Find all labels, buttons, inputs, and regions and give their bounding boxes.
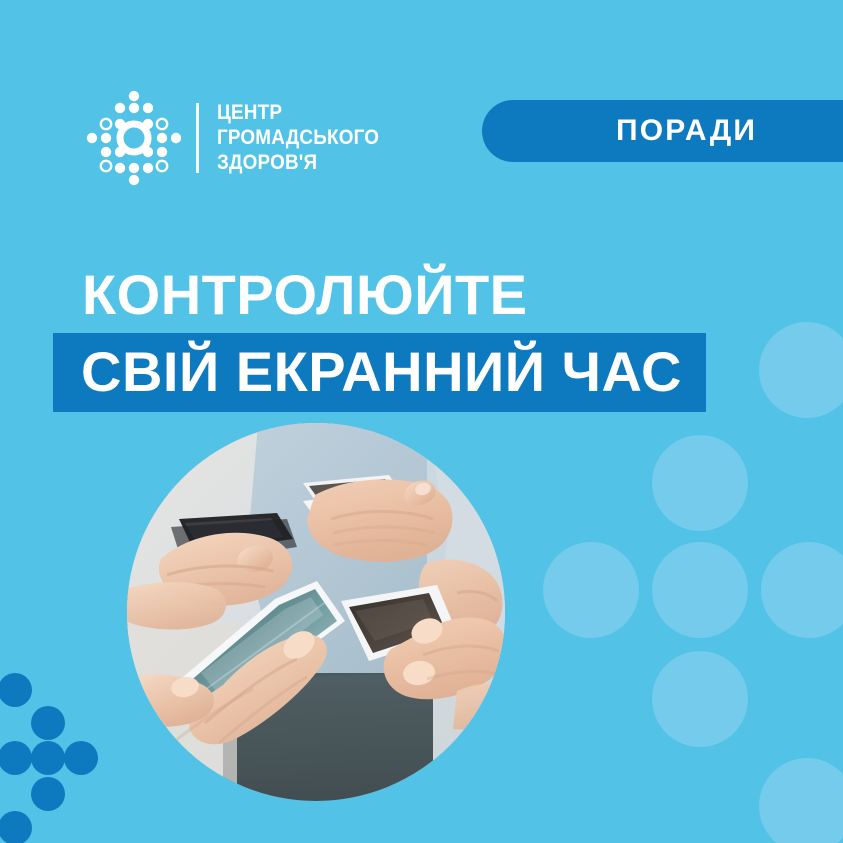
accent-dot-7 [0, 811, 32, 843]
logo-divider [196, 103, 199, 173]
category-badge-label: ПОРАДИ [616, 114, 757, 148]
decorative-circle-3 [543, 542, 639, 638]
accent-dot-3 [0, 741, 32, 775]
headline-line-1: КОНТРОЛЮЙТЕ [82, 266, 700, 323]
headline-block: КОНТРОЛЮЙТЕ СВІЙ ЕКРАННИЙ ЧАС [0, 266, 700, 412]
hero-photo [127, 423, 505, 801]
headline-line-2: СВІЙ ЕКРАННИЙ ЧАС [81, 343, 682, 400]
decorative-circle-7 [759, 758, 843, 843]
decorative-circle-4 [652, 542, 748, 638]
accent-dot-4 [31, 741, 65, 775]
category-badge: ПОРАДИ [482, 100, 843, 162]
logo-line-1: ЦЕНТР [217, 101, 379, 125]
poster-canvas: ЦЕНТР ГРОМАДСЬКОГО ЗДОРОВ'Я ПОРАДИ КОНТР… [0, 0, 843, 843]
logo-line-2: ГРОМАДСЬКОГО [217, 126, 379, 150]
decorative-circle-2 [652, 435, 748, 531]
accent-dot-5 [64, 741, 98, 775]
accent-dot-2 [31, 706, 65, 740]
decorative-circle-6 [652, 651, 748, 747]
logo-dot-diamond-icon [84, 88, 184, 188]
accent-dot-1 [0, 673, 32, 707]
decorative-circle-5 [761, 542, 843, 638]
headline-highlight-block: СВІЙ ЕКРАННИЙ ЧАС [53, 333, 706, 412]
accent-dot-6 [31, 777, 65, 811]
logo-line-3: ЗДОРОВ'Я [217, 151, 379, 175]
logo-lockup: ЦЕНТР ГРОМАДСЬКОГО ЗДОРОВ'Я [84, 86, 397, 190]
logo-wordmark: ЦЕНТР ГРОМАДСЬКОГО ЗДОРОВ'Я [217, 101, 397, 175]
decorative-circle-1 [759, 322, 843, 418]
